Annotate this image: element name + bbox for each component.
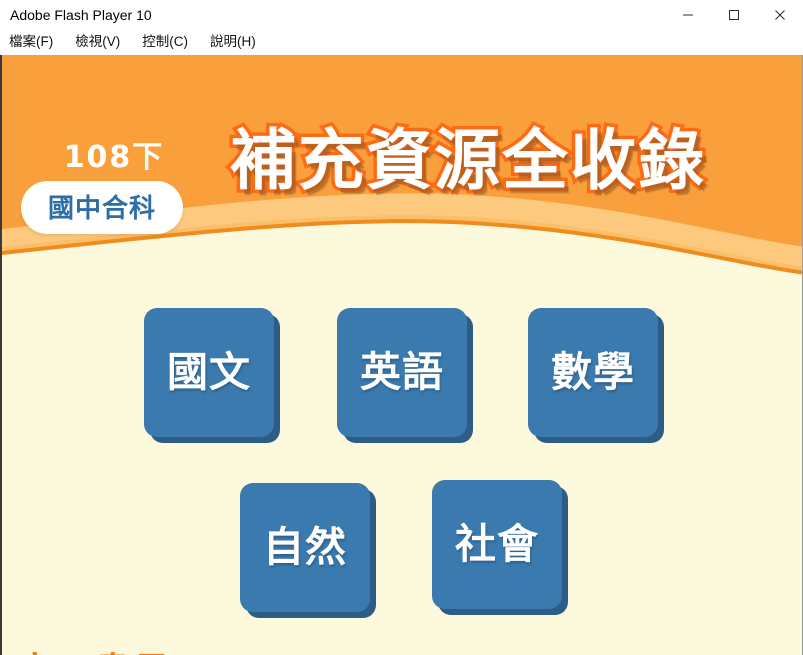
- menu-item-control[interactable]: 控制(C): [140, 33, 197, 52]
- subject-label: 英語: [360, 352, 444, 393]
- subject-label: 數學: [551, 352, 635, 393]
- subject-button-science[interactable]: 自然: [240, 483, 370, 612]
- flash-stage: 108下 國中合科 補充資源全收錄 國文 英語 數學 自然 社會 南一書局: [0, 55, 803, 655]
- menu-item-help[interactable]: 說明(H): [208, 33, 265, 52]
- menu-item-view[interactable]: 檢視(V): [73, 33, 129, 52]
- subject-label: 自然: [263, 527, 347, 568]
- maximize-button[interactable]: [711, 0, 757, 30]
- window-title: Adobe Flash Player 10: [10, 7, 152, 23]
- subject-grid: 國文 英語 數學 自然 社會: [2, 55, 803, 655]
- minimize-button[interactable]: [665, 0, 711, 30]
- subject-label: 社會: [455, 524, 539, 565]
- subject-button-english[interactable]: 英語: [337, 308, 467, 437]
- close-button[interactable]: [757, 0, 803, 30]
- subject-button-social[interactable]: 社會: [432, 480, 562, 609]
- subject-button-math[interactable]: 數學: [528, 308, 658, 437]
- window-controls: [665, 0, 803, 30]
- flash-player-window: Adobe Flash Player 10 檔案(F) 檢視(V) 控制(C) …: [0, 0, 803, 655]
- subject-label: 國文: [167, 352, 251, 393]
- menu-item-file[interactable]: 檔案(F): [7, 33, 62, 52]
- subject-button-chinese[interactable]: 國文: [144, 308, 274, 437]
- title-bar: Adobe Flash Player 10: [0, 0, 803, 30]
- menu-bar: 檔案(F) 檢視(V) 控制(C) 說明(H): [0, 30, 803, 55]
